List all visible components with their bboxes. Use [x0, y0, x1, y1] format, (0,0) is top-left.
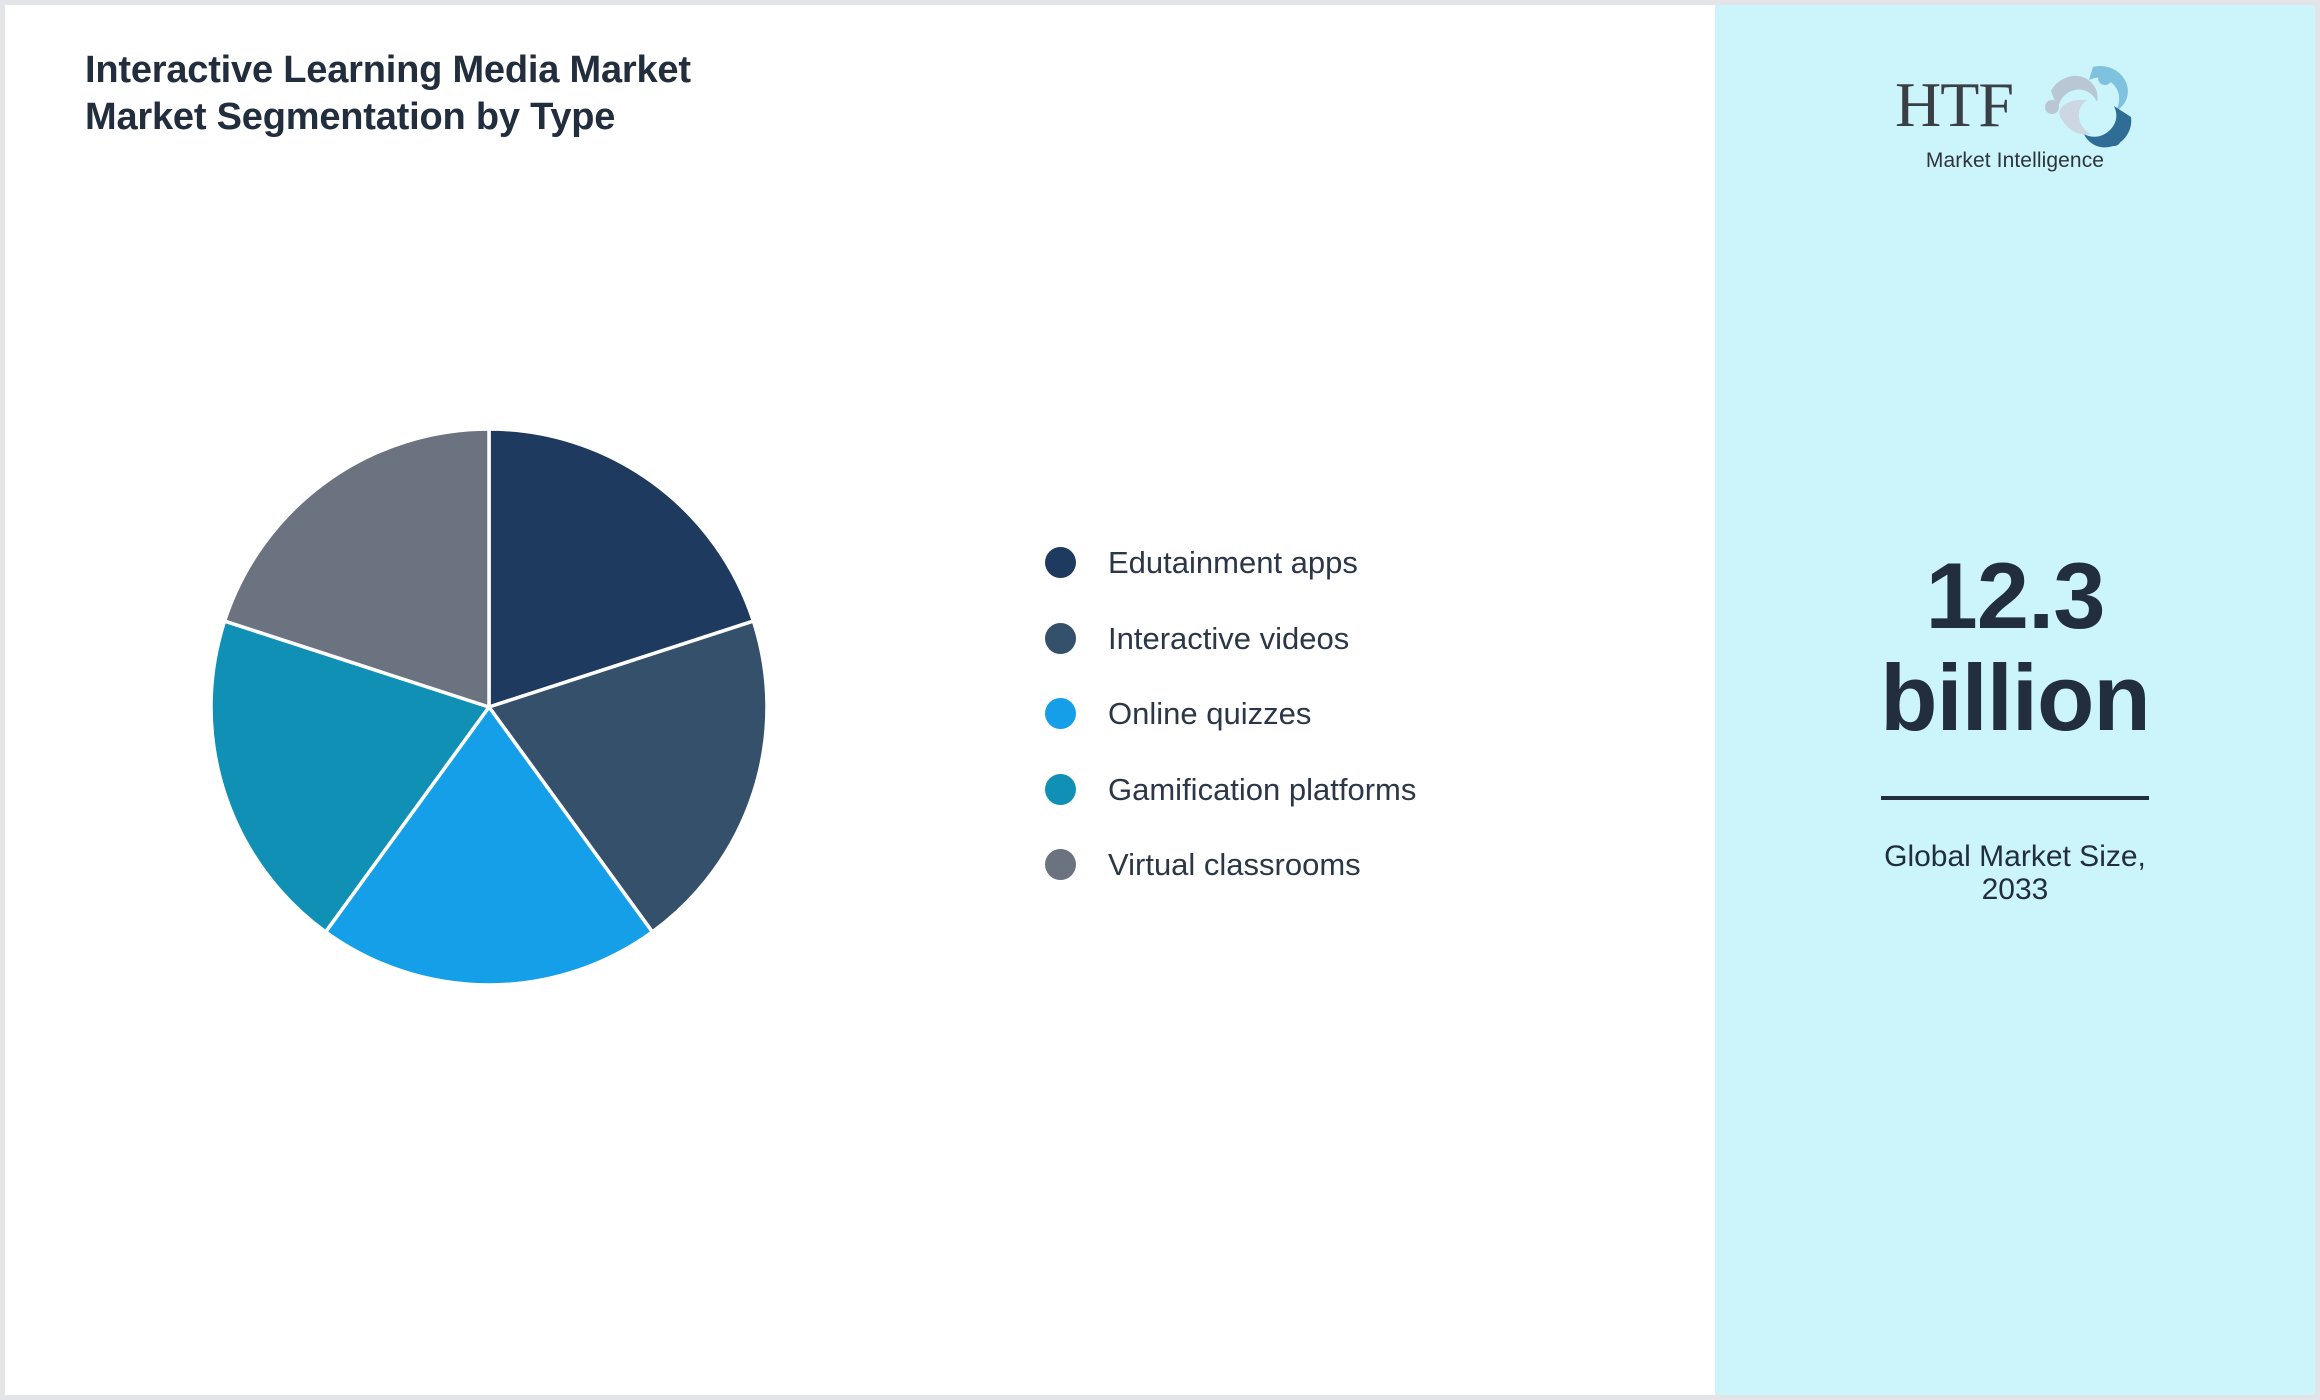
- htf-logo: HTF Market Intelligence: [1715, 67, 2315, 177]
- legend-item-label: Online quizzes: [1108, 698, 1311, 729]
- legend-swatch-icon: [1045, 623, 1076, 654]
- stat-value: 12.3 billion: [1765, 545, 2265, 748]
- main-panel: Interactive Learning Media Market Market…: [5, 5, 1715, 1395]
- stat-caption: Global Market Size, 2033: [1765, 840, 2265, 906]
- infographic-canvas: Interactive Learning Media Market Market…: [0, 0, 2320, 1400]
- legend-swatch-icon: [1045, 698, 1076, 729]
- legend-item-label: Edutainment apps: [1108, 547, 1358, 578]
- legend-item-edutainment-apps[interactable]: Edutainment apps: [1045, 525, 1605, 601]
- pie-chart: [209, 427, 769, 987]
- legend-item-gamification-platforms[interactable]: Gamification platforms: [1045, 752, 1605, 828]
- stat-block: 12.3 billion Global Market Size, 2033: [1765, 545, 2265, 906]
- pie-slice-group: [211, 429, 767, 985]
- swirl-icon: [2035, 61, 2139, 149]
- legend-item-interactive-videos[interactable]: Interactive videos: [1045, 601, 1605, 677]
- legend-swatch-icon: [1045, 774, 1076, 805]
- logo-subtitle: Market Intelligence: [1926, 149, 2104, 173]
- legend-item-label: Interactive videos: [1108, 623, 1349, 654]
- stat-divider: [1881, 796, 2149, 800]
- legend-item-label: Virtual classrooms: [1108, 849, 1361, 880]
- legend-swatch-icon: [1045, 849, 1076, 880]
- legend-item-label: Gamification platforms: [1108, 774, 1416, 805]
- legend-item-online-quizzes[interactable]: Online quizzes: [1045, 676, 1605, 752]
- pie-chart-svg: [209, 427, 769, 987]
- stat-panel: HTF Market Intelligence 12.3 billion Glo…: [1715, 5, 2315, 1395]
- chart-legend: Edutainment apps Interactive videos Onli…: [1045, 525, 1605, 903]
- page-title: Interactive Learning Media Market Market…: [85, 47, 1285, 140]
- logo-mark: HTF: [1885, 67, 2145, 147]
- legend-item-virtual-classrooms[interactable]: Virtual classrooms: [1045, 827, 1605, 903]
- legend-swatch-icon: [1045, 547, 1076, 578]
- logo-letters: HTF: [1895, 69, 2013, 141]
